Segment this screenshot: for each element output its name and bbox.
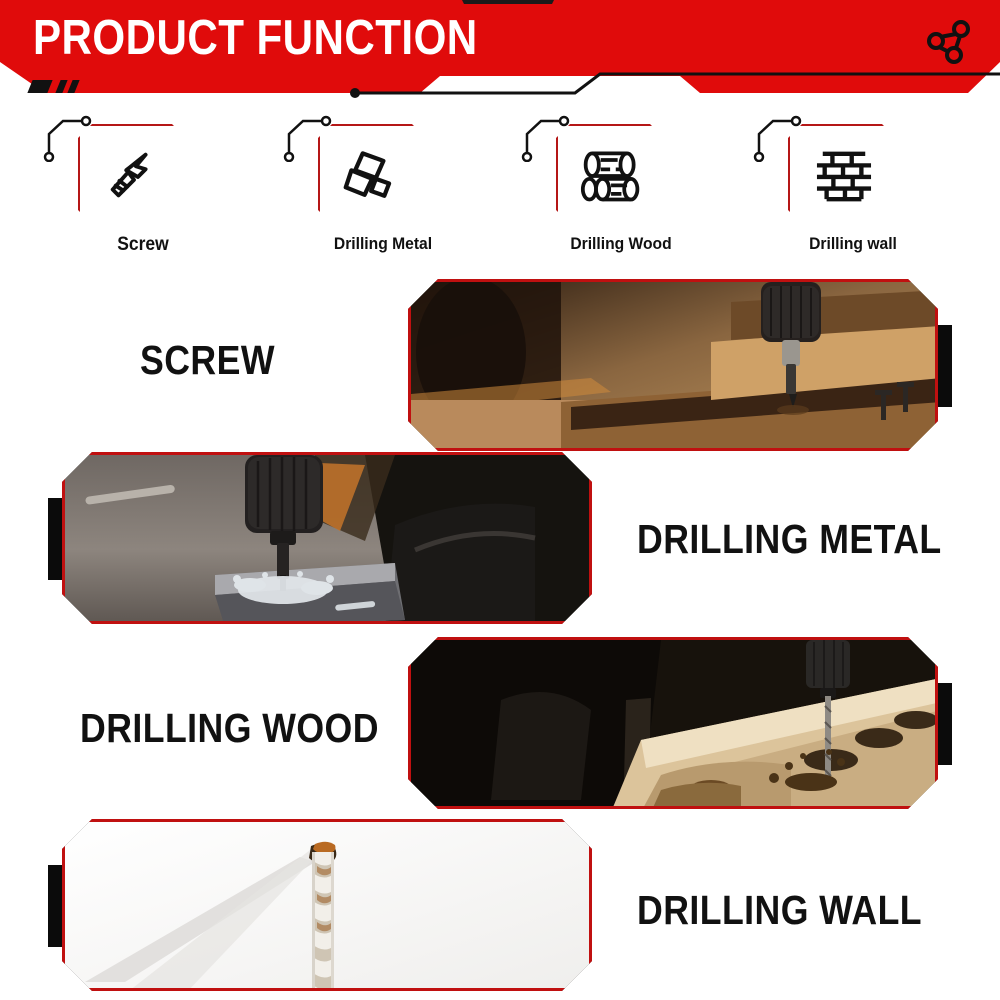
icon-frame [556, 124, 668, 228]
screw-icon [103, 145, 165, 207]
function-icon-label: Screw [33, 234, 254, 256]
function-icon-item-screw[interactable]: Screw [23, 110, 263, 270]
function-icon-item-drilling-metal[interactable]: Drilling Metal [263, 110, 503, 270]
photo-drilling-metal [62, 452, 592, 624]
function-icon-label: Drilling Wood [511, 234, 732, 254]
section-photo-wrap [408, 279, 938, 451]
header-banner: PRODUCT FUNCTION [0, 0, 1000, 93]
section-title: SCREW [140, 337, 275, 384]
section-title: DRILLING METAL [637, 516, 942, 563]
photo-drilling-wood [408, 637, 938, 809]
photo-screw [408, 279, 938, 451]
section-title: DRILLING WOOD [80, 705, 379, 752]
section-photo-wrap [62, 819, 592, 991]
network-share-icon [926, 18, 974, 64]
function-icon-row: Screw Drilli [0, 110, 1000, 270]
section-photo-wrap [62, 452, 592, 624]
section-title: DRILLING WALL [637, 887, 922, 934]
photo-image [411, 640, 938, 809]
feature-section-drilling-wood: DRILLING WOOD [0, 633, 1000, 813]
feature-section-drilling-wall: DRILLING WALL [0, 815, 1000, 995]
circuit-trace-icon [0, 60, 1000, 100]
icon-frame [318, 124, 430, 228]
section-photo-wrap [408, 637, 938, 809]
function-icon-item-drilling-wood[interactable]: Drilling Wood [501, 110, 741, 270]
function-icon-label: Drilling wall [743, 234, 964, 254]
feature-section-drilling-metal: DRILLING METAL [0, 448, 1000, 628]
header-top-black-notch [448, 0, 568, 4]
wood-logs-icon [580, 149, 644, 203]
metal-ingots-icon [342, 147, 406, 205]
function-icon-item-drilling-wall[interactable]: Drilling wall [733, 110, 973, 270]
brick-wall-icon [813, 148, 875, 204]
page-title: PRODUCT FUNCTION [33, 14, 478, 63]
photo-image [65, 822, 592, 991]
photo-image [65, 455, 592, 624]
product-function-infographic: PRODUCT FUNCTION [0, 0, 1000, 1000]
photo-image [411, 282, 938, 451]
function-icon-label: Drilling Metal [273, 234, 494, 254]
photo-drilling-wall [62, 819, 592, 991]
icon-frame [78, 124, 190, 228]
feature-section-screw: SCREW [0, 275, 1000, 455]
icon-frame [788, 124, 900, 228]
